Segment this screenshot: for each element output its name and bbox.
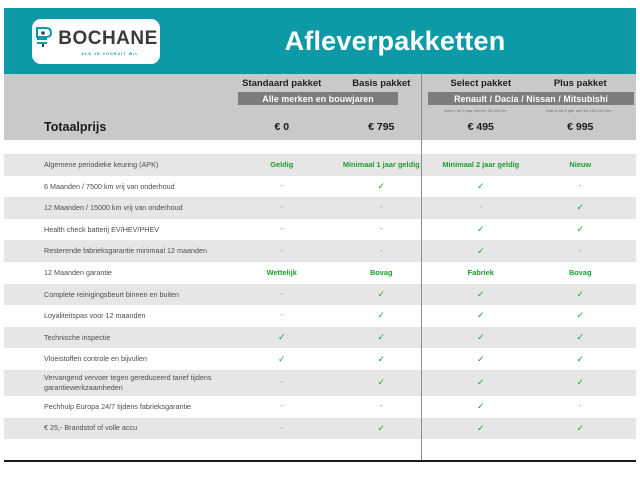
package-name-select[interactable]: Select pakket [431,78,531,89]
table-row: Algemene periodieke keuring (APK)GeldigM… [4,154,636,176]
band-alle-merken: Alle merken en bouwjaren [238,92,398,105]
price-basis: € 795 [332,121,432,133]
logo-tagline: ALS JE VOORUIT WIL [81,52,138,56]
table-row: € 25,- Brandstof of volle accu-✓✓✓ [4,418,636,440]
feature-cell: ✓ [232,332,332,343]
total-price-cells: € 0 € 795 € 495 € 995 [232,121,636,133]
package-name-basis[interactable]: Basis pakket [332,78,432,89]
feature-cell: Nieuw [531,160,631,169]
feature-cell: ✓ [531,224,631,235]
feature-cell: ✓ [332,377,432,388]
feature-cell: ✓ [431,332,531,343]
page-header: BOCHANE ALS JE VOORUIT WIL Afleverpakket… [4,8,636,74]
band-merken-select-plus: Renault / Dacia / Nissan / Mitsubishi [428,92,634,105]
feature-cell: ✓ [332,332,432,343]
feature-cell: ✓ [531,377,631,388]
feature-cells: -✓✓✓ [232,310,636,321]
feature-cells: --✓- [232,401,636,412]
feature-cell: ✓ [431,354,531,365]
feature-label: 12 Maanden garantie [4,268,232,278]
total-price-row: Totaalprijs € 0 € 795 € 495 € 995 [4,114,636,140]
feature-cell: - [531,246,631,257]
feature-cell: - [431,202,531,213]
price-plus: € 995 [531,121,631,133]
total-price-label: Totaalprijs [4,120,232,134]
feature-cell: - [232,224,332,235]
feature-cells: WettelijkBovagFabriekBovag [232,268,636,277]
logo-row: BOCHANE [34,26,158,50]
feature-cell: ✓ [332,310,432,321]
feature-cell: - [531,401,631,412]
feature-cell: - [232,401,332,412]
feature-cells: GeldigMinimaal 1 jaar geldigMinimaal 2 j… [232,160,636,169]
feature-cell: - [332,401,432,412]
feature-cell: ✓ [332,181,432,192]
feature-cell: - [332,224,432,235]
feature-cell: ✓ [431,289,531,300]
feature-cell: - [332,202,432,213]
afleverpakketten-card: BOCHANE ALS JE VOORUIT WIL Afleverpakket… [4,8,636,462]
table-row: Vervangend vervoer tegen gereduceerd tar… [4,370,636,396]
feature-cell: - [531,181,631,192]
feature-cells: --✓✓ [232,224,636,235]
feature-cell: ✓ [531,423,631,434]
feature-cell: ✓ [531,202,631,213]
feature-cell: Fabriek [431,268,531,277]
feature-label: Resterende fabrieksgarantie minimaal 12 … [4,246,232,256]
feature-cell: ✓ [531,310,631,321]
feature-cell: ✓ [431,377,531,388]
feature-cell: ✓ [431,224,531,235]
package-group-divider [421,74,422,462]
package-name-standaard[interactable]: Standaard pakket [232,78,332,89]
feature-cell: ✓ [431,423,531,434]
feature-cell: Geldig [232,160,332,169]
feature-cell: Bovag [332,268,432,277]
feature-cell: ✓ [332,289,432,300]
feature-cells: ✓✓✓✓ [232,332,636,343]
table-row: Technische inspectie✓✓✓✓ [4,327,636,349]
feature-cell: ✓ [332,423,432,434]
subnote-select: Auto's tot 3 jaar oud en 30.000 km [424,108,527,113]
package-name-row: Standaard pakket Basis pakket Select pak… [232,78,630,89]
feature-cell: - [232,181,332,192]
feature-cell: Minimaal 1 jaar geldig [332,160,432,169]
feature-cell: ✓ [332,354,432,365]
feature-cell: - [232,423,332,434]
table-row: Health check batterij EV/HEV/PHEV--✓✓ [4,219,636,241]
feature-cells: -✓✓✓ [232,423,636,434]
logo-wordmark: BOCHANE [58,29,158,48]
price-select: € 495 [431,121,531,133]
page-root: BOCHANE ALS JE VOORUIT WIL Afleverpakket… [0,0,640,480]
package-name-plus[interactable]: Plus pakket [531,78,631,89]
feature-label: 6 Maanden / 7500 km vrij van onderhoud [4,182,232,192]
feature-cell: ✓ [531,332,631,343]
package-header-grid: Standaard pakket Basis pakket Select pak… [4,74,636,140]
header-table-spacer [4,140,636,154]
table-row: Vloeistoffen controle en bijvullen✓✓✓✓ [4,348,636,370]
feature-label: € 25,- Brandstof of volle accu [4,423,232,433]
package-header: Standaard pakket Basis pakket Select pak… [4,74,636,140]
subnote-plus: Auto's tot 5 jaar oud en 100.000 km [527,108,630,113]
feature-cells: -✓✓- [232,181,636,192]
feature-cell: ✓ [431,310,531,321]
feature-cell: Minimaal 2 jaar geldig [431,160,531,169]
feature-cells: ---✓ [232,202,636,213]
feature-cell: Wettelijk [232,268,332,277]
table-row: Pechhulp Europa 24/7 tijdens fabrieksgar… [4,396,636,418]
feature-cells: --✓- [232,246,636,257]
feature-label: Loyaliteitspas voor 12 maanden [4,311,232,321]
feature-cells: ✓✓✓✓ [232,354,636,365]
table-row: 12 Maanden garantieWettelijkBovagFabriek… [4,262,636,284]
table-row: 12 Maanden / 15000 km vrij van onderhoud… [4,197,636,219]
feature-cell: - [332,246,432,257]
feature-label: Technische inspectie [4,333,232,343]
feature-label: Vervangend vervoer tegen gereduceerd tar… [4,373,232,392]
table-bottom-pad [4,439,636,451]
feature-label: Complete reinigingsbeurt binnen en buite… [4,290,232,300]
table-row: Loyaliteitspas voor 12 maanden-✓✓✓ [4,305,636,327]
feature-cell: ✓ [232,354,332,365]
feature-cell: - [232,202,332,213]
feature-label: Algemene periodieke keuring (APK) [4,160,232,170]
feature-cell: ✓ [431,181,531,192]
feature-label: Health check batterij EV/HEV/PHEV [4,225,232,235]
feature-table: Algemene periodieke keuring (APK)GeldigM… [4,154,636,439]
feature-cell: ✓ [431,246,531,257]
bochane-mark-icon [34,26,53,50]
feature-cell: - [232,377,332,388]
table-row: 6 Maanden / 7500 km vrij van onderhoud-✓… [4,176,636,198]
table-row: Complete reinigingsbeurt binnen en buite… [4,284,636,306]
feature-label: Pechhulp Europa 24/7 tijdens fabrieksgar… [4,402,232,412]
feature-cell: ✓ [531,289,631,300]
feature-cell: Bovag [531,268,631,277]
feature-cell: ✓ [431,401,531,412]
feature-cell: - [232,289,332,300]
feature-cells: -✓✓✓ [232,377,636,388]
feature-cell: ✓ [531,354,631,365]
feature-cell: - [232,310,332,321]
table-row: Resterende fabrieksgarantie minimaal 12 … [4,240,636,262]
price-standaard: € 0 [232,121,332,133]
bochane-logo[interactable]: BOCHANE ALS JE VOORUIT WIL [32,19,160,64]
feature-cell: - [232,246,332,257]
feature-label: 12 Maanden / 15000 km vrij van onderhoud [4,203,232,213]
feature-label: Vloeistoffen controle en bijvullen [4,354,232,364]
feature-cells: -✓✓✓ [232,289,636,300]
package-subnote-row: Auto's tot 3 jaar oud en 30.000 km Auto'… [424,108,630,113]
